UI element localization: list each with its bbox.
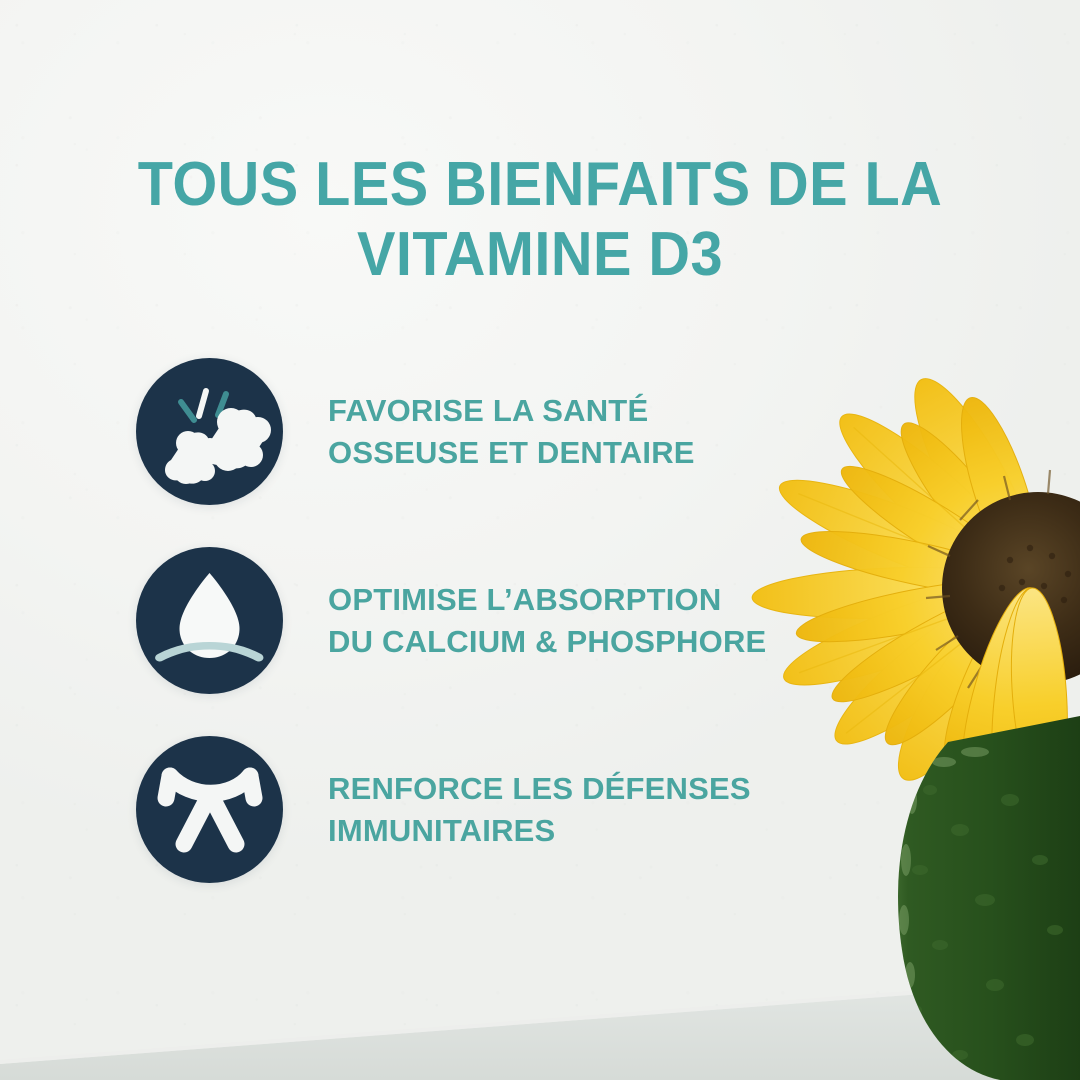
title-line-1: TOUS LES BIENFAITS DE LA [38,150,1042,220]
benefit-label: RENFORCE LES DÉFENSES IMMUNITAIRES [328,768,751,852]
benefit-label-line-1: FAVORISE LA SANTÉ [328,390,695,432]
benefit-label-line-2: IMMUNITAIRES [328,810,751,852]
benefit-item-bone-health: FAVORISE LA SANTÉ OSSEUSE ET DENTAIRE [136,358,916,505]
benefit-icon-badge [136,736,283,883]
page-title: TOUS LES BIENFAITS DE LA VITAMINE D3 [0,150,1080,290]
benefit-label-line-2: OSSEUSE ET DENTAIRE [328,432,695,474]
bones-sparkle-icon [136,358,283,505]
benefit-icon-badge [136,547,283,694]
benefit-label-line-1: OPTIMISE L’ABSORPTION [328,579,766,621]
benefits-list: FAVORISE LA SANTÉ OSSEUSE ET DENTAIRE OP… [136,358,916,925]
title-line-2: VITAMINE D3 [38,220,1042,290]
sunflower-center [926,470,1080,688]
benefit-label: FAVORISE LA SANTÉ OSSEUSE ET DENTAIRE [328,390,695,474]
benefit-item-immune-defense: RENFORCE LES DÉFENSES IMMUNITAIRES [136,736,916,883]
sunflower-lower-petals [946,580,1074,813]
benefit-icon-badge [136,358,283,505]
benefit-label-line-1: RENFORCE LES DÉFENSES [328,768,751,810]
antibody-immune-icon [136,736,283,883]
poster-canvas: TOUS LES BIENFAITS DE LA VITAMINE D3 [0,0,1080,1080]
benefit-label: OPTIMISE L’ABSORPTION DU CALCIUM & PHOSP… [328,579,766,663]
benefit-label-line-2: DU CALCIUM & PHOSPHORE [328,621,766,663]
table-surface-edge [0,960,1080,1080]
benefit-item-calcium-absorption: OPTIMISE L’ABSORPTION DU CALCIUM & PHOSP… [136,547,916,694]
droplet-absorption-icon [136,547,283,694]
